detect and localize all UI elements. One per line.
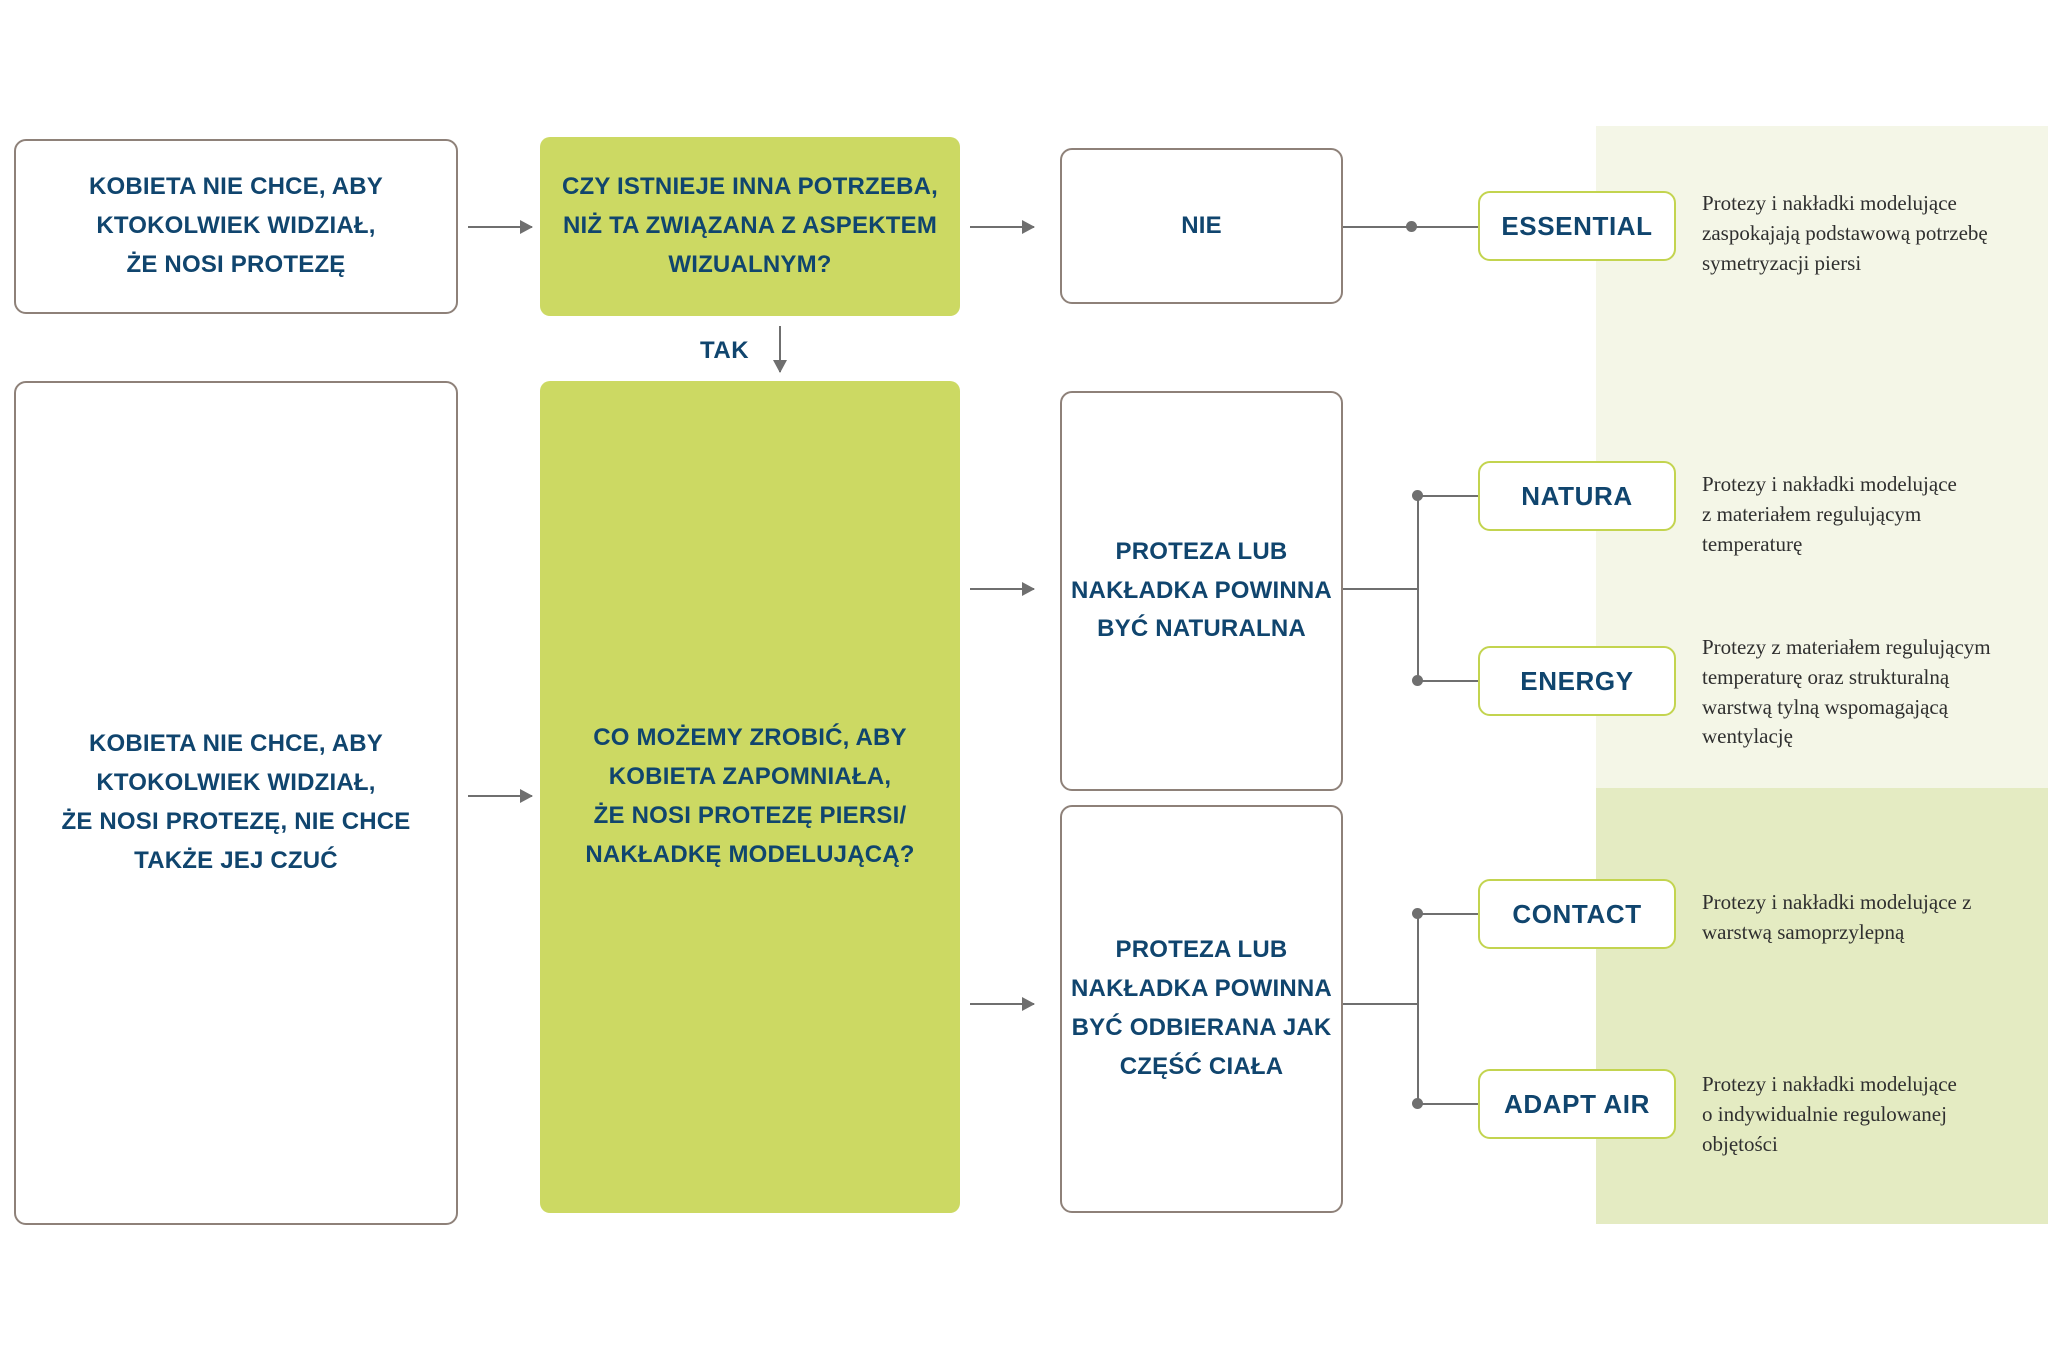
connector-body-to-contact [1417,913,1478,915]
product-box-adapt-air: ADAPT AIR [1478,1069,1676,1139]
product-box-essential-label: ESSENTIAL [1501,212,1652,241]
connector-dot-adapt-air [1412,1098,1423,1109]
connector-natural-spine [1417,495,1419,682]
connector-dot-energy [1412,675,1423,686]
question-box-top-label: CZY ISTNIEJE INNA POTRZEBA, NIŻ TA ZWIĄZ… [562,168,938,285]
persona-box-bottom: KOBIETA NIE CHCE, ABY KTOKOLWIEK WIDZIAŁ… [14,381,458,1225]
question-box-top: CZY ISTNIEJE INNA POTRZEBA, NIŻ TA ZWIĄZ… [540,137,960,316]
arrow-persona-bottom-to-question-bottom [468,795,532,797]
edge-label-tak: TAK [700,337,749,365]
product-box-natura-label: NATURA [1521,482,1632,511]
connector-natural-trunk [1343,588,1419,590]
connector-dot-contact [1412,908,1423,919]
product-description-natura: Protezy i nakładki modelujące z materiał… [1702,470,2032,559]
arrow-question-bottom-to-outcome-body [970,1003,1034,1005]
product-box-adapt-air-label: ADAPT AIR [1504,1090,1650,1119]
connector-dot-natura [1412,490,1423,501]
connector-dot-essential [1406,221,1417,232]
arrow-persona-top-to-question-top [468,226,532,228]
question-box-bottom-label: CO MOŻEMY ZROBIĆ, ABY KOBIETA ZAPOMNIAŁA… [585,719,914,875]
product-description-essential: Protezy i nakładki modelujące zaspokajaj… [1702,189,2032,278]
persona-box-top-label: KOBIETA NIE CHCE, ABY KTOKOLWIEK WIDZIAŁ… [89,168,383,285]
persona-box-bottom-label: KOBIETA NIE CHCE, ABY KTOKOLWIEK WIDZIAŁ… [61,725,410,881]
product-description-adapt-air: Protezy i nakładki modelujące o indywidu… [1702,1070,2032,1159]
connector-body-trunk [1343,1003,1419,1005]
product-description-contact: Protezy i nakładki modelujące z warstwą … [1702,888,2042,948]
product-box-contact-label: CONTACT [1512,900,1641,929]
connector-body-to-adapt-air [1417,1103,1478,1105]
arrow-question-top-to-nie [970,226,1034,228]
outcome-box-natural-label: PROTEZA LUB NAKŁADKA POWINNA BYĆ NATURAL… [1071,533,1332,650]
arrow-question-top-to-question-bottom [779,326,781,372]
product-description-energy: Protezy z materiałem regulującym tempera… [1702,633,2042,752]
product-box-natura: NATURA [1478,461,1676,531]
product-box-energy-label: ENERGY [1520,667,1633,696]
outcome-box-natural: PROTEZA LUB NAKŁADKA POWINNA BYĆ NATURAL… [1060,391,1343,791]
persona-box-top: KOBIETA NIE CHCE, ABY KTOKOLWIEK WIDZIAŁ… [14,139,458,314]
outcome-box-body-label: PROTEZA LUB NAKŁADKA POWINNA BYĆ ODBIERA… [1071,931,1332,1087]
arrow-question-bottom-to-outcome-natural [970,588,1034,590]
connector-body-spine [1417,913,1419,1105]
product-box-essential: ESSENTIAL [1478,191,1676,261]
answer-box-nie: NIE [1060,148,1343,304]
outcome-box-body: PROTEZA LUB NAKŁADKA POWINNA BYĆ ODBIERA… [1060,805,1343,1213]
product-box-energy: ENERGY [1478,646,1676,716]
product-box-contact: CONTACT [1478,879,1676,949]
connector-natural-to-natura [1417,495,1478,497]
answer-box-nie-label: NIE [1181,207,1222,246]
question-box-bottom: CO MOŻEMY ZROBIĆ, ABY KOBIETA ZAPOMNIAŁA… [540,381,960,1213]
connector-natural-to-energy [1417,680,1478,682]
flowchart-canvas: KOBIETA NIE CHCE, ABY KTOKOLWIEK WIDZIAŁ… [0,0,2048,1365]
